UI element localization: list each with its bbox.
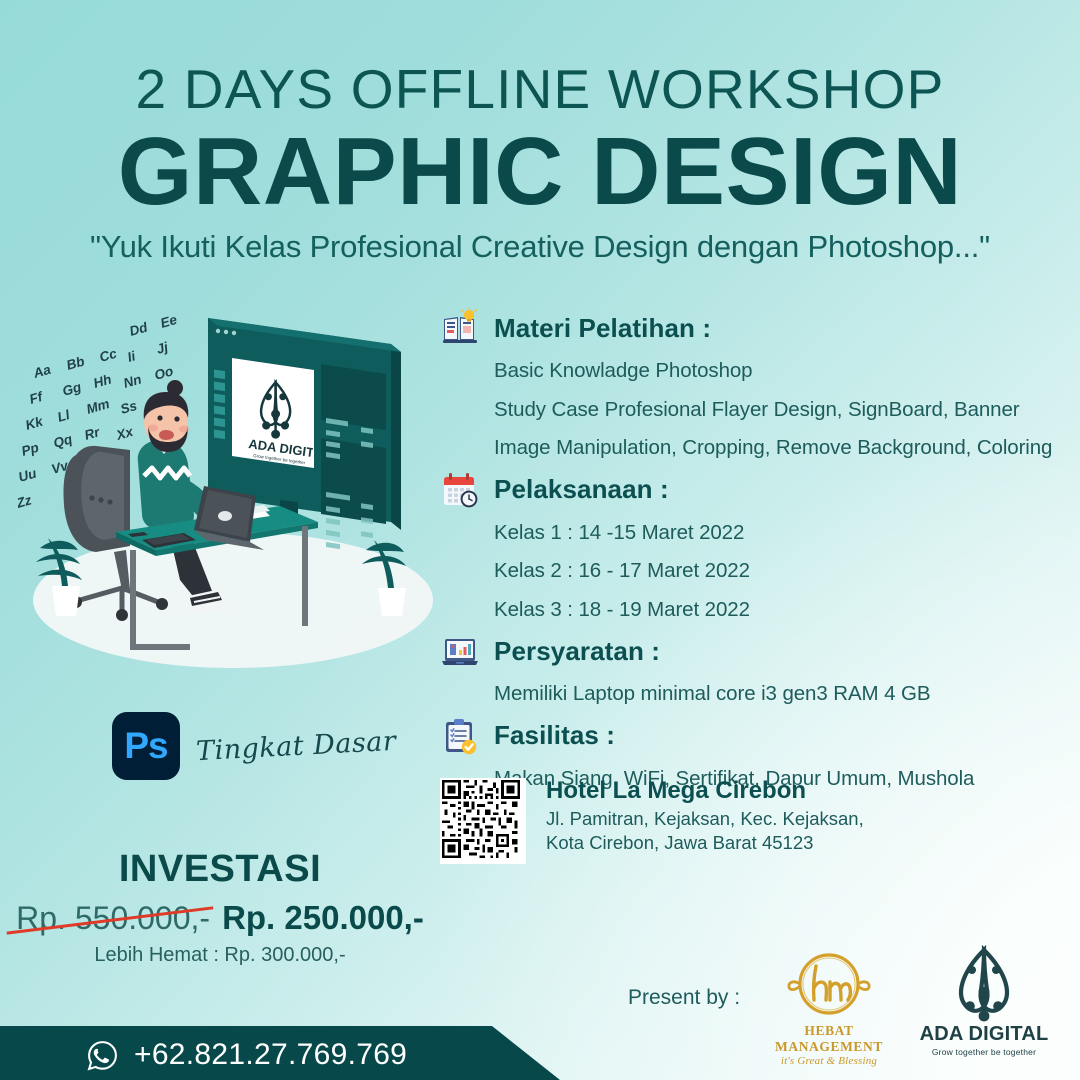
section-header: Persyaratan :: [440, 631, 1050, 671]
svg-text:Ee: Ee: [159, 312, 179, 331]
svg-text:Xx: Xx: [114, 424, 135, 443]
list-item: Kelas 2 : 16 - 17 Maret 2022: [494, 552, 1050, 591]
svg-text:Cc: Cc: [98, 346, 119, 365]
book-lightbulb-icon: [440, 308, 480, 348]
price-row: Rp. 550.000,- Rp. 250.000,-: [0, 899, 440, 937]
list-item: Study Case Profesional Flayer Design, Si…: [494, 391, 1050, 430]
section-persyaratan: Persyaratan : Memiliki Laptop minimal co…: [440, 631, 1050, 714]
photoshop-level-row: Ps Tingkat Dasar: [112, 712, 396, 780]
list-item: Kelas 1 : 14 -15 Maret 2022: [494, 514, 1050, 553]
section-items: Kelas 1 : 14 -15 Maret 2022 Kelas 2 : 16…: [494, 514, 1050, 630]
price-discounted: Rp. 250.000,-: [222, 899, 424, 937]
svg-text:Pp: Pp: [20, 440, 41, 459]
details-column: Materi Pelatihan : Basic Knowladge Photo…: [440, 308, 1050, 800]
level-label: Tingkat Dasar: [195, 725, 397, 766]
svg-text:Nn: Nn: [122, 372, 143, 391]
qr-code[interactable]: [440, 778, 526, 864]
section-items: Basic Knowladge Photoshop Study Case Pro…: [494, 352, 1050, 468]
header-subtitle: "Yuk Ikuti Kelas Profesional Creative De…: [0, 229, 1080, 265]
section-title: Persyaratan :: [494, 636, 660, 667]
whatsapp-icon[interactable]: [86, 1039, 119, 1072]
clipboard-check-icon: [440, 716, 480, 756]
present-by-label: Present by :: [628, 986, 740, 1010]
svg-text:Hh: Hh: [92, 372, 113, 391]
svg-text:Aa: Aa: [31, 362, 53, 382]
calendar-clock-icon: [440, 470, 480, 510]
section-materi: Materi Pelatihan : Basic Knowladge Photo…: [440, 308, 1050, 468]
header-title: GRAPHIC DESIGN: [0, 123, 1080, 221]
list-item: Image Manipulation, Cropping, Remove Bac…: [494, 429, 1050, 468]
venue-name: Hotel La Mega Cirebon: [546, 778, 864, 804]
svg-text:Ss: Ss: [119, 398, 139, 417]
section-header: Fasilitas :: [440, 716, 1050, 756]
section-title: Pelaksanaan :: [494, 474, 669, 505]
svg-text:Zz: Zz: [18, 492, 33, 511]
svg-text:Kk: Kk: [24, 413, 46, 433]
workspace-illustration: Aa Bb Cc Dd Ee Ff Gg Hh Ii Jj Kk Ll Mm N…: [18, 300, 438, 670]
svg-text:Ff: Ff: [28, 389, 46, 407]
svg-text:Mm: Mm: [85, 396, 111, 417]
investment-block: INVESTASI Rp. 550.000,- Rp. 250.000,- Le…: [0, 848, 440, 967]
venue-address-line1: Jl. Pamitran, Kejaksan, Kec. Kejaksan,: [546, 807, 864, 831]
list-item: Basic Knowladge Photoshop: [494, 352, 1050, 391]
price-savings: Lebih Hemat : Rp. 300.000,-: [0, 944, 440, 967]
investment-title: INVESTASI: [0, 848, 440, 891]
price-original: Rp. 550.000,-: [16, 900, 210, 937]
poster-root: 2 DAYS OFFLINE WORKSHOP GRAPHIC DESIGN "…: [0, 0, 1080, 1080]
phone-number[interactable]: +62.821.27.769.769: [134, 1038, 407, 1072]
svg-text:Gg: Gg: [61, 379, 84, 399]
svg-text:Rr: Rr: [83, 424, 102, 443]
footer-bar: +62.821.27.769.769: [0, 1026, 1080, 1080]
svg-text:Qq: Qq: [52, 431, 75, 451]
venue-block: Hotel La Mega Cirebon Jl. Pamitran, Keja…: [440, 778, 864, 864]
venue-text: Hotel La Mega Cirebon Jl. Pamitran, Keja…: [546, 778, 864, 855]
svg-text:Oo: Oo: [153, 363, 175, 383]
section-pelaksanaan: Pelaksanaan : Kelas 1 : 14 -15 Maret 202…: [440, 470, 1050, 630]
svg-text:Ii: Ii: [126, 348, 138, 365]
svg-text:Jj: Jj: [155, 339, 170, 357]
list-item: Memiliki Laptop minimal core i3 gen3 RAM…: [494, 675, 1050, 714]
venue-address-line2: Kota Cirebon, Jawa Barat 45123: [546, 831, 864, 855]
svg-text:Dd: Dd: [128, 319, 150, 339]
section-title: Fasilitas :: [494, 720, 615, 751]
header: 2 DAYS OFFLINE WORKSHOP GRAPHIC DESIGN "…: [0, 62, 1080, 265]
section-header: Materi Pelatihan :: [440, 308, 1050, 348]
section-header: Pelaksanaan :: [440, 470, 1050, 510]
svg-text:Uu: Uu: [18, 465, 39, 485]
venue-address: Jl. Pamitran, Kejaksan, Kec. Kejaksan, K…: [546, 807, 864, 854]
header-line1: 2 DAYS OFFLINE WORKSHOP: [0, 62, 1080, 117]
laptop-chart-icon: [440, 631, 480, 671]
section-title: Materi Pelatihan :: [494, 313, 711, 344]
photoshop-icon: Ps: [112, 712, 180, 780]
svg-text:Bb: Bb: [65, 354, 86, 373]
list-item: Kelas 3 : 18 - 19 Maret 2022: [494, 591, 1050, 630]
svg-text:Ll: Ll: [56, 407, 72, 425]
contact-row[interactable]: +62.821.27.769.769: [86, 1038, 407, 1072]
section-items: Memiliki Laptop minimal core i3 gen3 RAM…: [494, 675, 1050, 714]
